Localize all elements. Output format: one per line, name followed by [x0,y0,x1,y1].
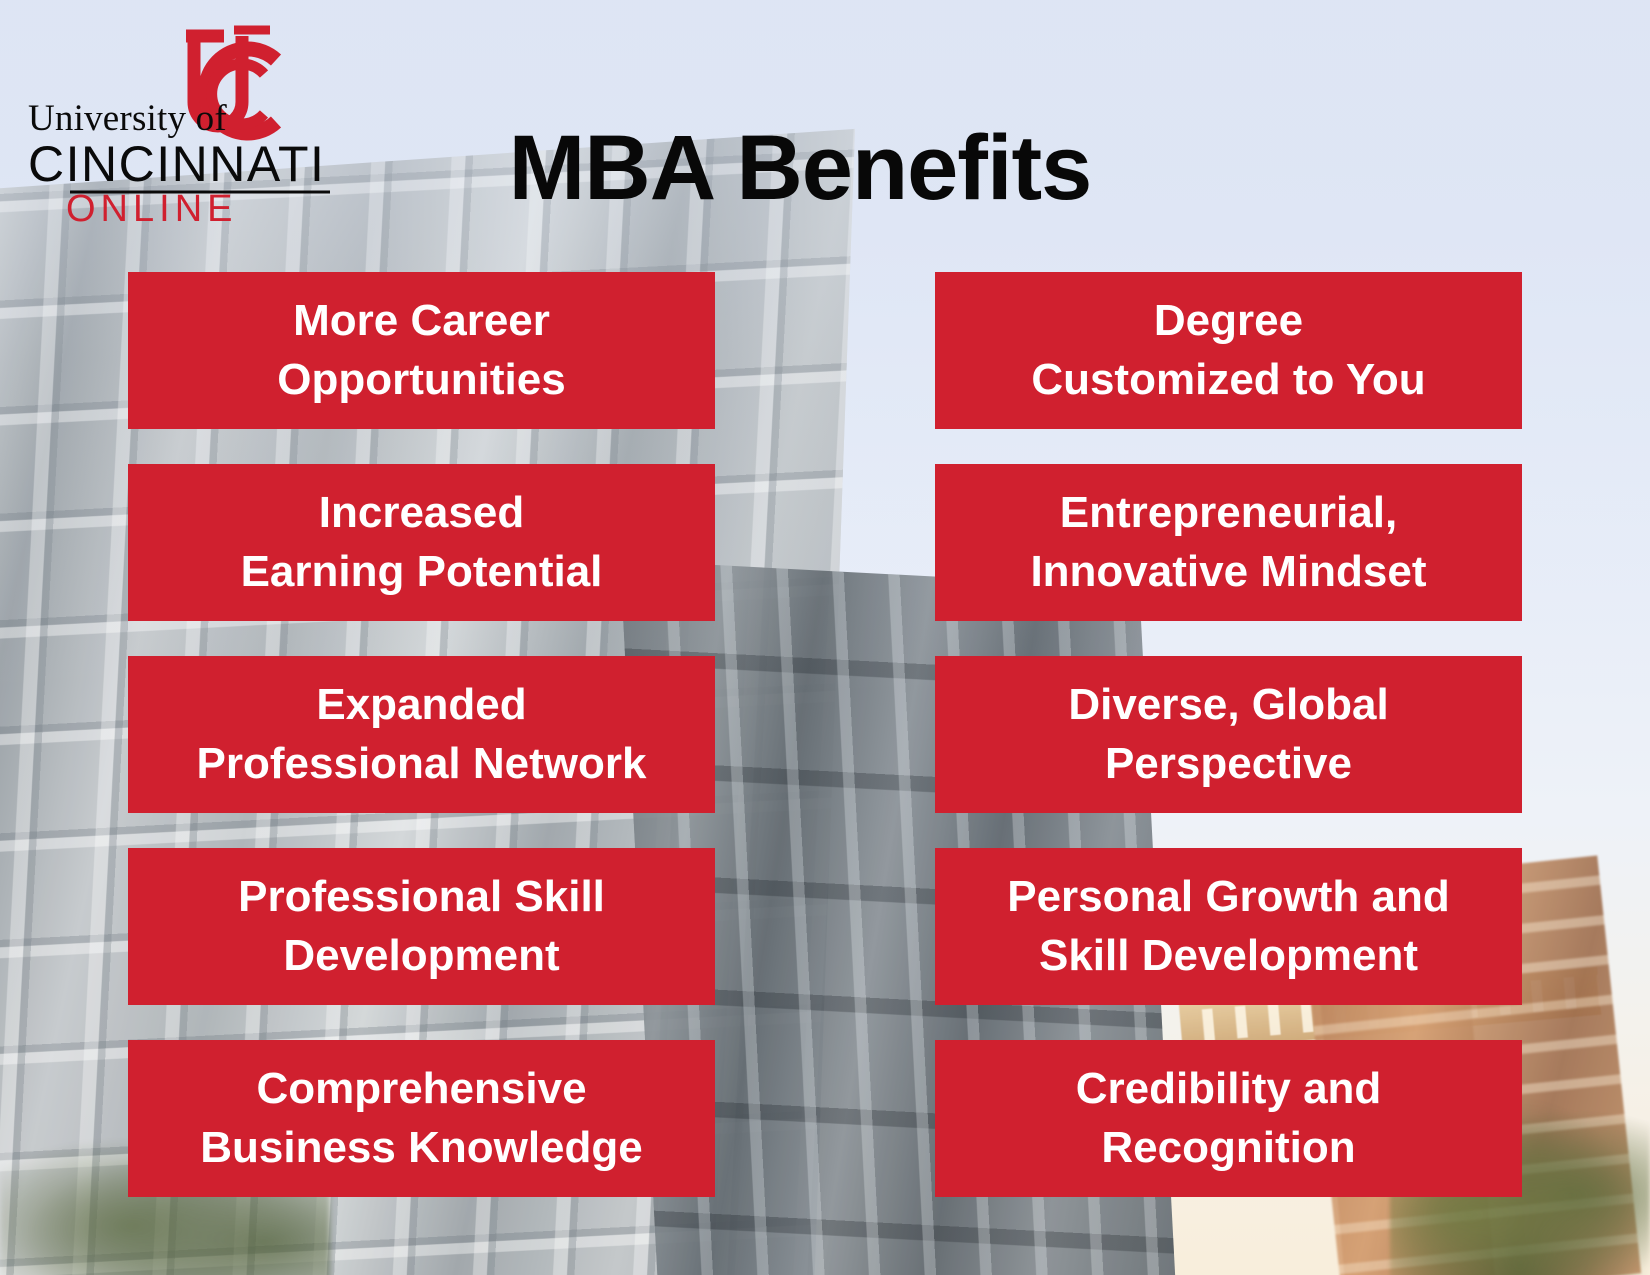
benefit-card[interactable]: Diverse, Global Perspective [935,656,1522,813]
page-title: MBA Benefits [360,122,1240,214]
benefit-line-2: Skill Development [1007,927,1450,985]
logo-line-cincinnati: CINCINNATI [28,136,325,192]
benefit-line-1: Increased [241,484,603,542]
benefit-line-1: Degree [1031,292,1425,350]
benefit-line-1: Expanded [197,676,647,734]
benefit-line-1: Professional Skill [238,868,605,926]
benefit-card[interactable]: Expanded Professional Network [128,656,715,813]
logo-line-university-of: University of [28,98,227,139]
benefit-card[interactable]: Credibility and Recognition [935,1040,1522,1197]
benefit-line-1: Comprehensive [200,1060,643,1118]
benefit-card[interactable]: More Career Opportunities [128,272,715,429]
benefit-line-2: Business Knowledge [200,1119,643,1177]
benefit-line-2: Recognition [1076,1119,1382,1177]
benefit-line-2: Earning Potential [241,543,603,601]
benefit-line-2: Customized to You [1031,351,1425,409]
benefit-line-1: Personal Growth and [1007,868,1450,926]
benefit-card[interactable]: Personal Growth and Skill Development [935,848,1522,1005]
benefit-line-1: More Career [277,292,565,350]
benefits-grid: More Career Opportunities Increased Earn… [0,272,1650,1232]
uc-online-logo: University of CINCINNATI ONLINE [18,18,338,223]
benefit-line-1: Credibility and [1076,1060,1382,1118]
benefit-line-1: Entrepreneurial, [1030,484,1426,542]
benefit-line-2: Innovative Mindset [1030,543,1426,601]
benefit-line-2: Professional Network [197,735,647,793]
logo-line-online: ONLINE [66,188,237,223]
benefit-line-1: Diverse, Global [1068,676,1388,734]
benefit-line-2: Development [238,927,605,985]
benefit-card[interactable]: Degree Customized to You [935,272,1522,429]
benefit-card[interactable]: Increased Earning Potential [128,464,715,621]
benefits-column-right: Degree Customized to You Entrepreneurial… [935,272,1522,1197]
benefit-card[interactable]: Professional Skill Development [128,848,715,1005]
benefit-line-2: Opportunities [277,351,565,409]
uc-online-logo-svg: University of CINCINNATI ONLINE [18,18,338,223]
benefit-line-2: Perspective [1068,735,1388,793]
benefit-card[interactable]: Entrepreneurial, Innovative Mindset [935,464,1522,621]
benefits-column-left: More Career Opportunities Increased Earn… [128,272,715,1197]
benefit-card[interactable]: Comprehensive Business Knowledge [128,1040,715,1197]
mba-benefits-poster: University of CINCINNATI ONLINE MBA Bene… [0,0,1650,1275]
